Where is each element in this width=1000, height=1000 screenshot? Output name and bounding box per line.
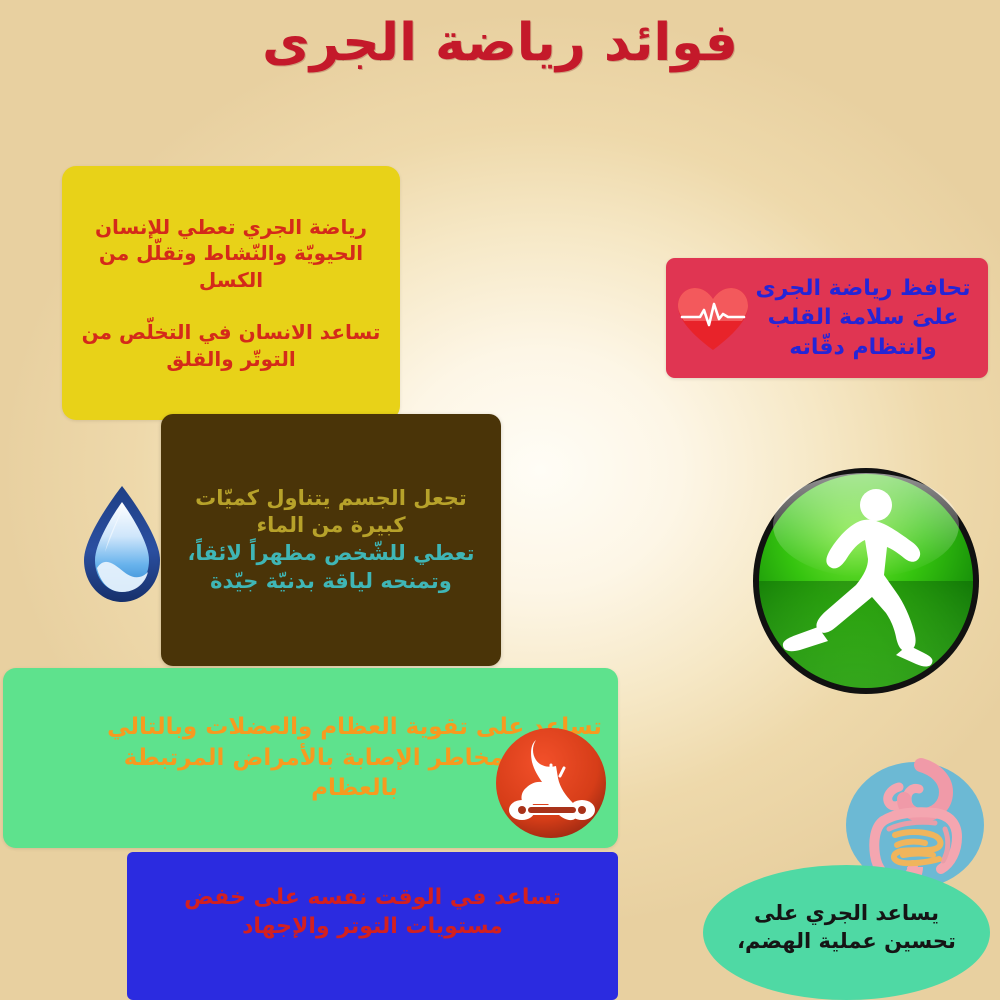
- infographic-poster: فوائد رياضة الجرى رياضة الجري تعطي للإنس…: [0, 0, 1000, 1000]
- digestion-text: يساعد الجري على تحسين عملية الهضم،: [725, 900, 968, 955]
- heart-ecg-icon: [676, 286, 750, 352]
- hydration-text: تجعل الجسم يتناول كميّات كبيرة من الماء: [179, 485, 483, 540]
- heart-health-text: تحافظ رياضة الجرى علىَ سلامة القلب وانتظ…: [752, 274, 974, 361]
- water-drop-icon: [72, 482, 172, 608]
- stress-reduction-text: تساعد في الوقت نفسه على خفض مستويات التو…: [145, 883, 600, 941]
- digestion-card: يساعد الجري على تحسين عملية الهضم،: [703, 865, 990, 1000]
- fitness-text: تعطي للشّخص مظهراً لائقاً، وتمنحه لياقة …: [179, 540, 483, 595]
- hydration-fitness-card: تجعل الجسم يتناول كميّات كبيرة من الماء …: [161, 414, 501, 666]
- page-title: فوائد رياضة الجرى: [0, 14, 1000, 74]
- runner-badge-icon: [748, 463, 984, 699]
- vitality-paragraph-2: تساعد الانسان في التخلّص من التوتّر والق…: [78, 319, 384, 372]
- heart-health-card: تحافظ رياضة الجرى علىَ سلامة القلب وانتظ…: [666, 258, 988, 378]
- vitality-card: رياضة الجري تعطي للإنسان الحيويّة والنّش…: [62, 166, 400, 420]
- stress-reduction-card: تساعد في الوقت نفسه على خفض مستويات التو…: [127, 852, 618, 1000]
- arm-bone-icon: [494, 726, 608, 840]
- vitality-paragraph-1: رياضة الجري تعطي للإنسان الحيويّة والنّش…: [78, 214, 384, 293]
